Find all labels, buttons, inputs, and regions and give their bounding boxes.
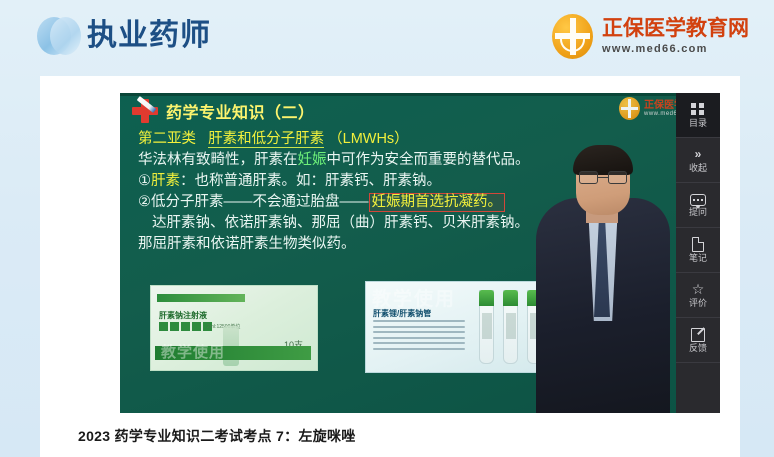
- product-left-watermark: 教学使用: [161, 341, 225, 362]
- slide-line-2-a: 华法林有致畸性，肝素在: [138, 152, 298, 168]
- slide-line-2-c: 中可作为安全而重要的替代品。: [327, 152, 530, 168]
- product-image-heparin-injection: 肝素钠注射液 2ml:12500单位 10支 教学使用: [150, 285, 318, 371]
- sidebar-item-rating[interactable]: ☆ 评价: [676, 273, 720, 318]
- med66-brand-name: 正保医学教育网: [602, 18, 749, 40]
- player-sidebar: 目录 » 收起 提问 笔记 ☆ 评价 反馈: [676, 93, 720, 413]
- slide-line-1-c: （LMWHs）: [328, 131, 409, 147]
- product-image-heparin-tubes: 教学使用 肝素锂/肝素钠管: [365, 281, 553, 373]
- video-player[interactable]: 药学专业知识（二） 正保医学教育网 www.med66.com 第二亚类 肝素和…: [120, 93, 720, 413]
- slide-line-4-a: ②低分子肝素——不会通过胎盘——: [138, 194, 369, 210]
- page-title: 执业药师: [87, 21, 211, 51]
- product-left-name: 肝素钠注射液: [159, 310, 207, 321]
- brand-right[interactable]: 正保医学教育网 www.med66.com: [552, 14, 749, 59]
- note-page-icon: [692, 237, 704, 252]
- slide-title: 药学专业知识（二）: [166, 99, 315, 123]
- sidebar-item-feedback-label: 反馈: [689, 344, 707, 353]
- slide-line-3-b: 肝素: [151, 173, 180, 189]
- lecture-slide: 药学专业知识（二） 正保医学教育网 www.med66.com 第二亚类 肝素和…: [120, 93, 720, 413]
- sidebar-item-collapse-label: 收起: [689, 164, 707, 173]
- slide-top-divider: [120, 93, 720, 96]
- sidebar-item-collapse[interactable]: » 收起: [676, 138, 720, 183]
- slide-highlight-box: 妊娠期首选抗凝药。: [369, 193, 506, 212]
- slide-line-2-b: 妊娠: [298, 152, 327, 168]
- slide-line-1-b: 肝素和低分子肝素: [208, 131, 324, 148]
- page-header: 执业药师 正保医学教育网 www.med66.com: [0, 0, 774, 75]
- sidebar-item-rating-label: 评价: [689, 299, 707, 308]
- sidebar-item-question-label: 提问: [689, 208, 707, 217]
- slide-line-1-a: 第二亚类: [138, 131, 196, 147]
- med66-cross-badge-icon: [552, 14, 593, 59]
- brand-left: 执业药师: [37, 15, 211, 57]
- slide-header: 药学专业知识（二）: [132, 99, 315, 123]
- product-right-name: 肝素锂/肝素钠管: [373, 308, 431, 319]
- red-medical-cross-icon: [132, 99, 158, 123]
- sidebar-item-feedback[interactable]: 反馈: [676, 318, 720, 363]
- slide-line-3-c: ：也称普通肝素。如：肝素钙、肝素钠。: [180, 173, 441, 189]
- sidebar-item-notes[interactable]: 笔记: [676, 228, 720, 273]
- sidebar-item-notes-label: 笔记: [689, 254, 707, 263]
- presenter-figure: [528, 123, 678, 413]
- double-chevron-right-icon: »: [690, 147, 706, 162]
- grid-list-icon: [690, 102, 706, 117]
- star-icon: ☆: [690, 282, 706, 297]
- sidebar-item-catalog[interactable]: 目录: [676, 93, 720, 138]
- article-caption: 2023 药学专业知识二考试考点 7：左旋咪唑: [78, 426, 356, 446]
- sidebar-item-question[interactable]: 提问: [676, 183, 720, 228]
- slide-line-3-a: ①: [138, 173, 151, 189]
- speech-bubble-icon: [690, 194, 706, 206]
- med66-url: www.med66.com: [602, 43, 749, 55]
- overlapping-circles-logo: [37, 15, 81, 57]
- edit-pencil-icon: [691, 328, 705, 342]
- med66-badge-icon: [619, 97, 640, 120]
- product-right-watermark: 教学使用: [372, 284, 456, 311]
- content-card: 药学专业知识（二） 正保医学教育网 www.med66.com 第二亚类 肝素和…: [40, 76, 740, 457]
- glasses-icon: [579, 171, 627, 184]
- sidebar-item-catalog-label: 目录: [689, 119, 707, 128]
- product-right-description: [373, 320, 465, 353]
